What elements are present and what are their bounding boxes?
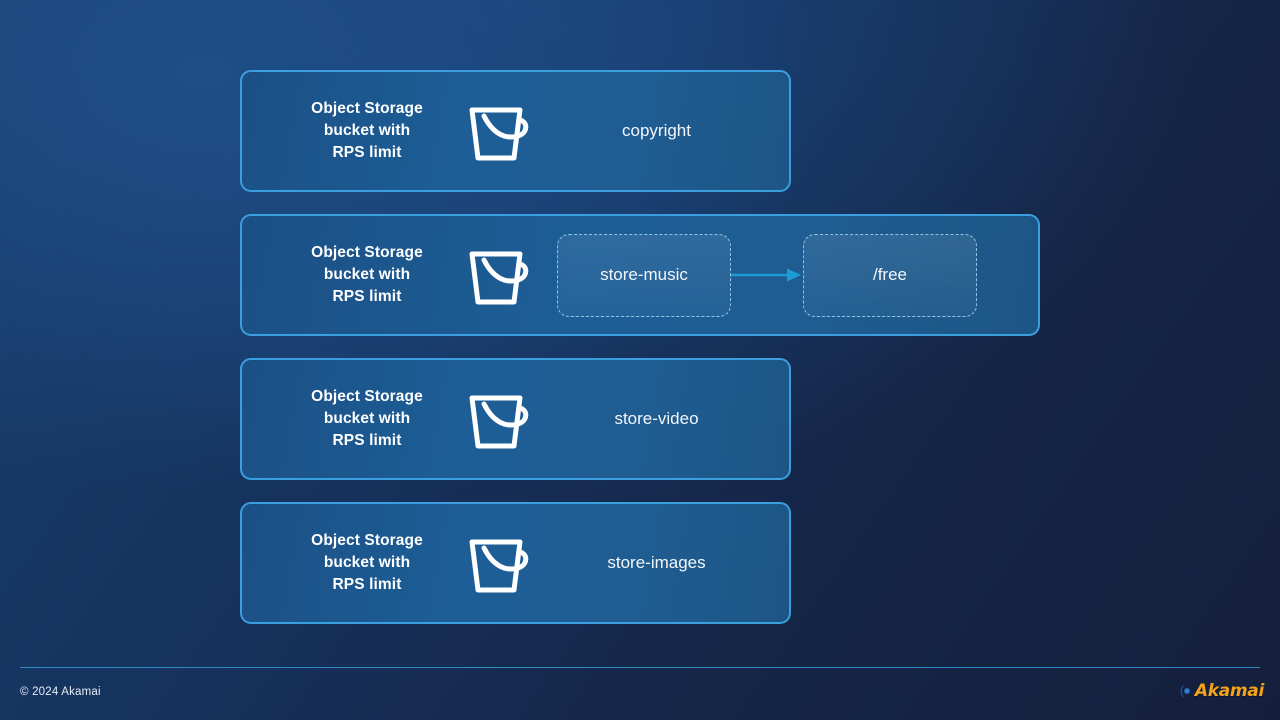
bucket-row-value: copyright: [536, 120, 789, 142]
flow-target-box[interactable]: /free: [803, 234, 977, 317]
bucket-label-line-2: bucket with: [282, 120, 452, 142]
storage-bucket-icon: [462, 240, 536, 310]
footer-divider: [20, 667, 1260, 668]
bucket-label-line-2: bucket with: [282, 408, 452, 430]
bucket-label-line-3: RPS limit: [282, 574, 452, 596]
bucket-row-label: Object Storage bucket with RPS limit: [282, 386, 452, 452]
bucket-label-line-3: RPS limit: [282, 430, 452, 452]
bucket-rows: Object Storage bucket with RPS limit cop…: [240, 70, 1040, 646]
storage-bucket-icon: [462, 528, 536, 598]
bucket-row-store-video[interactable]: Object Storage bucket with RPS limit sto…: [240, 358, 791, 480]
bucket-label-line-2: bucket with: [282, 552, 452, 574]
bucket-label-line-1: Object Storage: [282, 386, 452, 408]
akamai-logo: Akamai: [1176, 678, 1264, 704]
storage-bucket-icon: [462, 384, 536, 454]
bucket-row-value: store-images: [536, 552, 789, 574]
copyright-text: © 2024 Akamai: [20, 686, 101, 698]
bucket-row-store-music[interactable]: Object Storage bucket with RPS limit sto…: [240, 214, 1040, 336]
bucket-row-copyright[interactable]: Object Storage bucket with RPS limit cop…: [240, 70, 791, 192]
bucket-row-value: store-video: [536, 408, 789, 430]
bucket-label-line-3: RPS limit: [282, 286, 452, 308]
bucket-row-label: Object Storage bucket with RPS limit: [282, 530, 452, 596]
bucket-row-store-images[interactable]: Object Storage bucket with RPS limit sto…: [240, 502, 791, 624]
bucket-label-line-2: bucket with: [282, 264, 452, 286]
bucket-row-label: Object Storage bucket with RPS limit: [282, 242, 452, 308]
storage-bucket-icon: [462, 96, 536, 166]
arrow-right-icon: [731, 266, 803, 284]
bucket-label-line-1: Object Storage: [282, 530, 452, 552]
akamai-wordmark: Akamai: [1195, 681, 1264, 701]
slide-canvas: Object Storage bucket with RPS limit cop…: [0, 0, 1280, 720]
bucket-label-line-1: Object Storage: [282, 242, 452, 264]
bucket-row-label: Object Storage bucket with RPS limit: [282, 98, 452, 164]
bucket-flow: store-music /free: [536, 216, 1038, 334]
bucket-label-line-1: Object Storage: [282, 98, 452, 120]
bucket-label-line-3: RPS limit: [282, 142, 452, 164]
flow-source-box[interactable]: store-music: [557, 234, 731, 317]
